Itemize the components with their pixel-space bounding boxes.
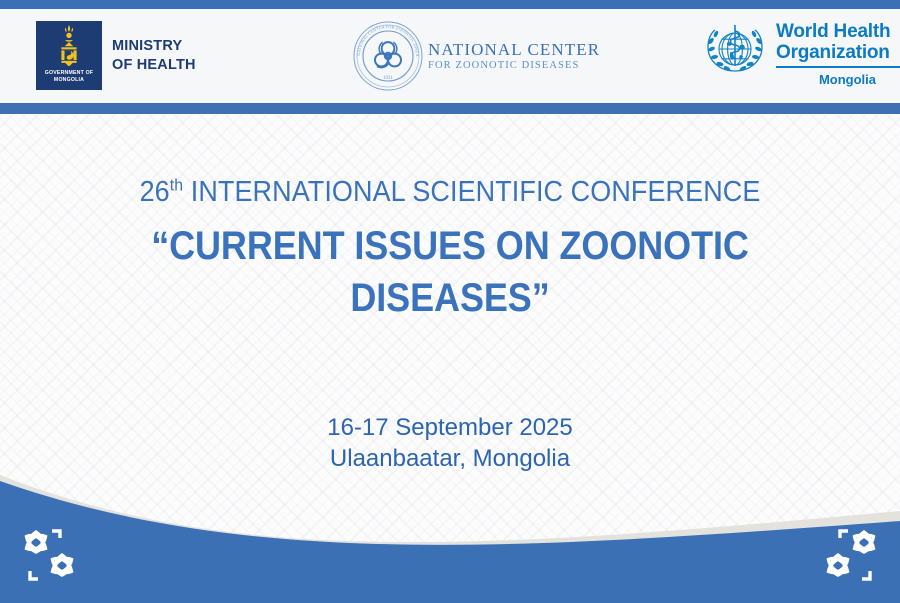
nczd-name-line2: FOR ZOONOTIC DISEASES (428, 59, 600, 73)
biohazard-seal-icon: NATIONAL CENTER FOR ZOONOTIC DISEASES 19… (352, 20, 424, 92)
wave-shapes (0, 473, 900, 603)
conference-theme-line2: DISEASES” (45, 272, 855, 324)
national-center-zoonotic-diseases-logo: NATIONAL CENTER FOR ZOONOTIC DISEASES 19… (352, 20, 600, 92)
conference-theme: “CURRENT ISSUES ON ZOONOTIC DISEASES” (45, 220, 855, 324)
top-accent-rule (0, 0, 900, 9)
who-name-line2: Organization (776, 42, 900, 63)
mongolia-government-emblem: GOVERNMENT OF MONGOLIA (36, 21, 102, 90)
nczd-name-line1: NATIONAL CENTER (428, 40, 600, 59)
conference-ordinal: th (170, 175, 183, 194)
triquetra-knot-ornament-left-icon (14, 523, 90, 585)
ministry-of-health-wordmark: MINISTRY OF HEALTH (112, 37, 196, 75)
conference-label: INTERNATIONAL SCIENTIFIC CONFERENCE (183, 176, 760, 208)
mongolia-soyombo-emblem-icon (52, 24, 86, 66)
who-mongolia-logo: World Health Organization Mongolia (702, 19, 900, 88)
who-divider-rule (776, 66, 900, 68)
conference-title-slide: GOVERNMENT OF MONGOLIA MINISTRY OF HEALT… (0, 0, 900, 603)
conference-edition-line: 26th INTERNATIONAL SCIENTIFIC CONFERENCE (32, 172, 869, 212)
svg-text:NATIONAL CENTER FOR ZOONOTIC D: NATIONAL CENTER FOR ZOONOTIC DISEASES (352, 20, 420, 57)
event-details-block: 16-17 September 2025 Ulaanbaatar, Mongol… (0, 412, 900, 474)
title-block: 26th INTERNATIONAL SCIENTIFIC CONFERENCE… (0, 172, 900, 324)
who-wordmark: World Health Organization Mongolia (776, 19, 900, 88)
who-rod-of-asclepius-globe-icon (702, 19, 768, 81)
event-dates: 16-17 September 2025 (0, 412, 900, 443)
ministry-name-line1: MINISTRY (112, 37, 196, 56)
triquetra-knot-ornament-right-icon (810, 523, 886, 585)
who-name-line1: World Health (776, 21, 900, 42)
event-location: Ulaanbaatar, Mongolia (0, 443, 900, 474)
emblem-caption-line2: MONGOLIA (54, 77, 84, 83)
seal-year: 1931 (383, 76, 394, 81)
emblem-caption-line1: GOVERNMENT OF (45, 70, 93, 76)
header-accent-rule (0, 103, 900, 114)
footer-wave-decoration (0, 473, 900, 603)
conference-theme-line1: “CURRENT ISSUES ON ZOONOTIC (45, 220, 855, 272)
nczd-wordmark: NATIONAL CENTER FOR ZOONOTIC DISEASES (428, 40, 600, 73)
who-country-label: Mongolia (776, 72, 900, 88)
conference-number: 26 (140, 176, 170, 208)
ministry-of-health-logo: GOVERNMENT OF MONGOLIA MINISTRY OF HEALT… (36, 21, 196, 90)
emblem-caption: GOVERNMENT OF MONGOLIA (36, 70, 102, 84)
ministry-name-line2: OF HEALTH (112, 56, 196, 75)
